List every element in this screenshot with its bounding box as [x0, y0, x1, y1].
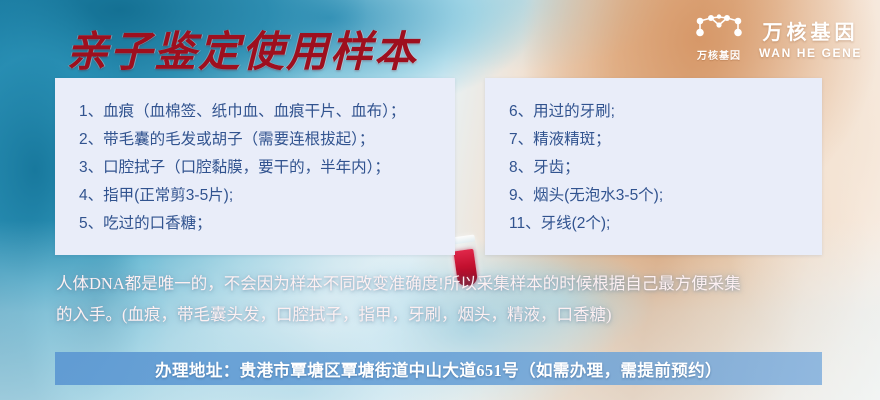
banner-title: 亲子鉴定使用样本 — [66, 18, 418, 79]
sample-list-panel-right: 6、用过的牙刷; 7、精液精斑； 8、牙齿； 9、烟头(无泡水3-5个); 11… — [485, 78, 822, 255]
sample-list-panel-left: 1、血痕（血棉签、纸巾血、血痕干片、血布）； 2、带毛囊的毛发或胡子（需要连根拔… — [55, 78, 455, 255]
list-item: 2、带毛囊的毛发或胡子（需要连根拔起）； — [79, 126, 455, 154]
list-item: 3、口腔拭子（口腔黏膜，要干的，半年内）； — [79, 154, 455, 182]
logo-caption: 万核基因 — [697, 47, 741, 62]
molecule-dna-icon — [695, 14, 743, 45]
list-item: 11、牙线(2个); — [509, 210, 822, 238]
brand-name-block: 万核基因 WAN HE GENE — [759, 16, 862, 60]
list-item: 5、吃过的口香糖； — [79, 210, 455, 238]
sample-list-right: 6、用过的牙刷; 7、精液精斑； 8、牙齿； 9、烟头(无泡水3-5个); 11… — [485, 78, 822, 238]
brand-logo: 万核基因 万核基因 WAN HE GENE — [695, 14, 862, 62]
brand-name-en: WAN HE GENE — [759, 46, 862, 60]
address-bar: 办理地址：贵港市覃塘区覃塘街道中山大道651号（如需办理，需提前预约） — [55, 352, 822, 385]
brand-name-cn: 万核基因 — [763, 16, 859, 45]
promotional-banner: 亲子鉴定使用样本 — [0, 0, 880, 400]
sample-list-left: 1、血痕（血棉签、纸巾血、血痕干片、血布）； 2、带毛囊的毛发或胡子（需要连根拔… — [55, 78, 455, 238]
list-item: 4、指甲(正常剪3-5片); — [79, 182, 455, 210]
list-item: 8、牙齿； — [509, 154, 822, 182]
address-text: 办理地址：贵港市覃塘区覃塘街道中山大道651号（如需办理，需提前预约） — [155, 357, 722, 381]
list-item: 7、精液精斑； — [509, 126, 822, 154]
logo-mark: 万核基因 — [695, 14, 743, 62]
note-line-2: 的入手。(血痕，带毛囊头发，口腔拭子，指甲，牙刷，烟头，精液，口香糖) — [56, 299, 848, 330]
list-item: 9、烟头(无泡水3-5个); — [509, 182, 822, 210]
explanatory-note: 人体DNA都是唯一的，不会因为样本不同改变准确度!所以采集样本的时候根据自己最方… — [56, 268, 848, 330]
list-item: 6、用过的牙刷; — [509, 98, 822, 126]
list-item: 1、血痕（血棉签、纸巾血、血痕干片、血布）； — [79, 98, 455, 126]
note-line-1: 人体DNA都是唯一的，不会因为样本不同改变准确度!所以采集样本的时候根据自己最方… — [56, 268, 848, 299]
